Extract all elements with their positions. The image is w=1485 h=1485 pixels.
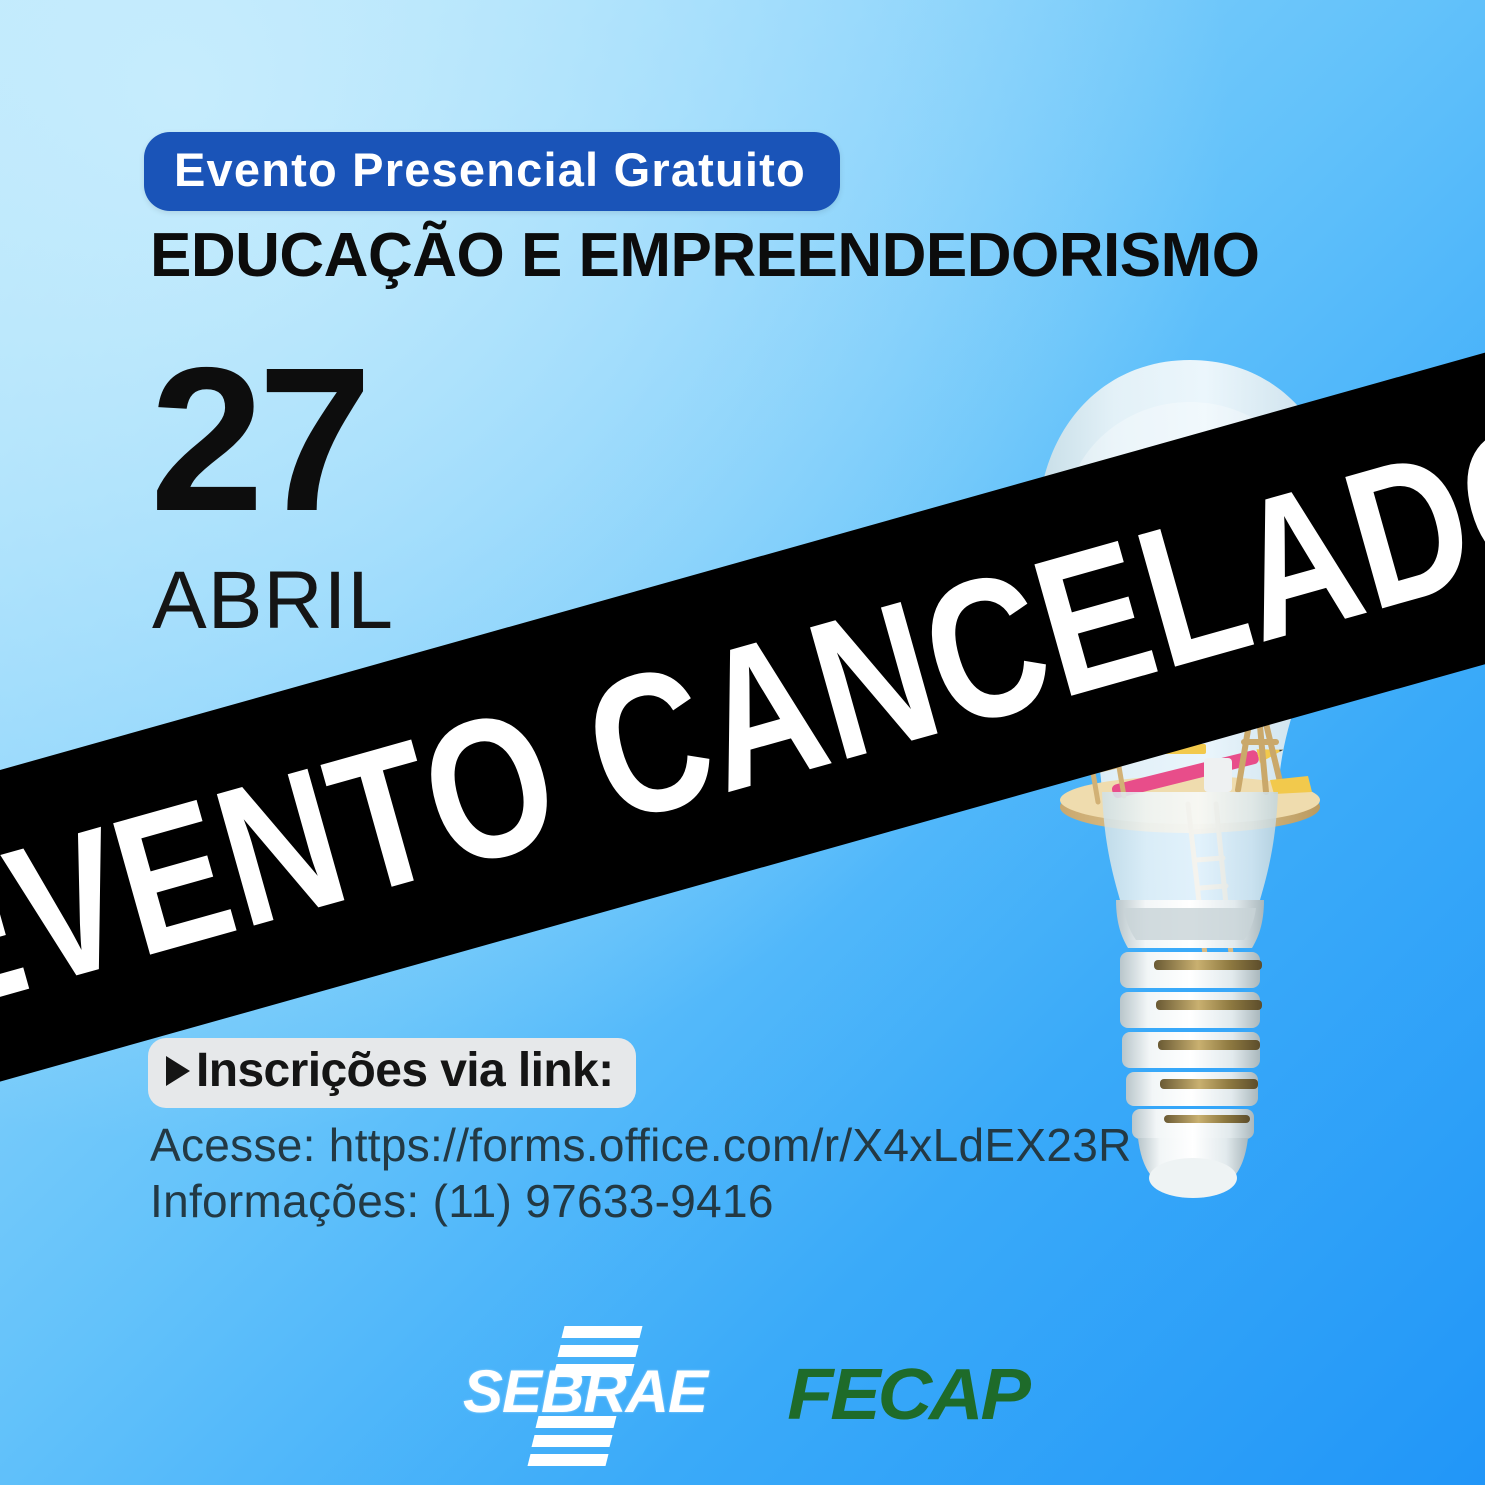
play-arrow-icon (166, 1056, 190, 1086)
free-event-badge: Evento Presencial Gratuito (144, 132, 840, 211)
sebrae-bar-bottom-2 (531, 1435, 612, 1447)
sebrae-logo: SEBRAE (463, 1320, 695, 1470)
event-day: 27 (150, 352, 366, 528)
registration-pill-label: Inscrições via link: (196, 1046, 614, 1096)
sebrae-logo-text: SEBRAE (463, 1362, 695, 1422)
fecap-logo: FECAP (787, 1359, 1027, 1431)
sebrae-bar-bottom-3 (527, 1454, 608, 1466)
registration-pill: Inscrições via link: (148, 1038, 636, 1108)
event-poster: Evento Presencial Gratuito EDUCAÇÃO E EM… (0, 0, 1485, 1485)
sebrae-bar-top-1 (561, 1326, 642, 1338)
registration-phone: Informações: (11) 97633-9416 (150, 1178, 774, 1224)
sponsor-logos: SEBRAE FECAP (0, 1320, 1485, 1470)
free-event-badge-label: Evento Presencial Gratuito (174, 146, 806, 193)
sebrae-bar-top-2 (557, 1345, 638, 1357)
event-month: ABRIL (152, 560, 394, 642)
page-title: EDUCAÇÃO E EMPREENDEDORISMO (150, 225, 1260, 287)
registration-link[interactable]: Acesse: https://forms.office.com/r/X4xLd… (150, 1122, 1132, 1168)
